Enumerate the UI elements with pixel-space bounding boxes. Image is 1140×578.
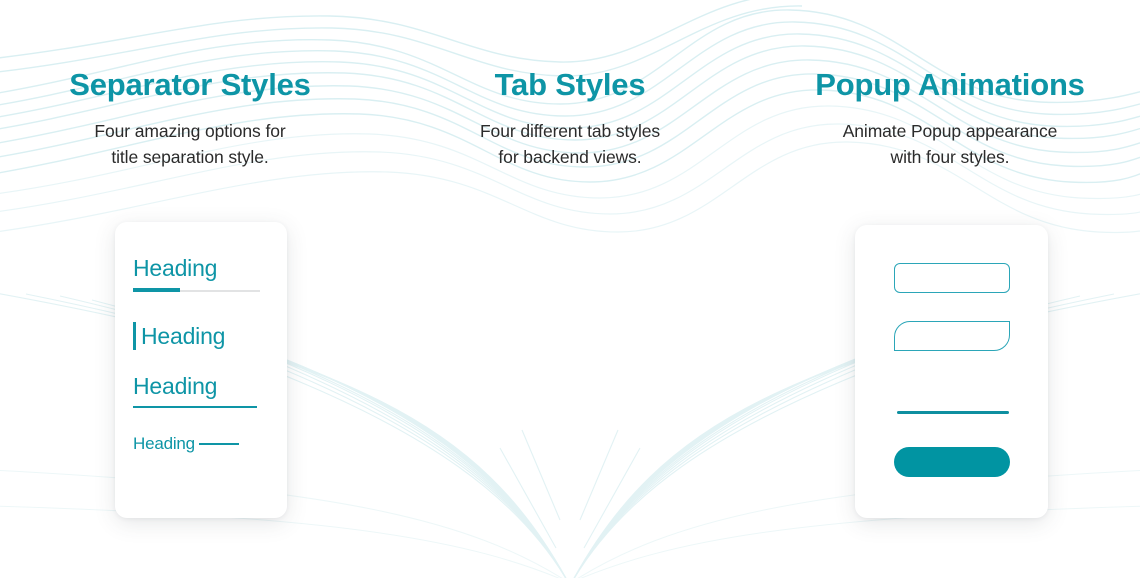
separator-styles-card: Heading Heading Heading xyxy=(115,222,287,518)
column-tab-styles: Tab Styles Four different tab styles for… xyxy=(380,0,760,578)
separator-underline-mixed xyxy=(133,288,260,294)
feature-showcase-banner: Separator Styles Four amazing options fo… xyxy=(0,0,1140,578)
separator-inline-rule xyxy=(199,443,239,446)
separator-vbar-row: Heading xyxy=(133,322,287,350)
page-title-separator-styles: Separator Styles xyxy=(69,68,310,102)
separator-inline-row: Heading xyxy=(133,435,287,453)
subtitle-line-1: Four different tab styles xyxy=(480,119,660,145)
subtitle-line-2: title separation style. xyxy=(94,145,285,171)
subtitle-line-2: for backend views. xyxy=(480,145,660,171)
subtitle-line-1: Four amazing options for xyxy=(94,119,285,145)
separator-vertical-bar xyxy=(133,322,136,350)
separator-full-rule xyxy=(133,406,257,408)
subtitle-popup-animations: Animate Popup appearance with four style… xyxy=(843,119,1058,171)
subtitle-separator-styles: Four amazing options for title separatio… xyxy=(94,119,285,171)
separator-heading-label: Heading xyxy=(133,435,195,453)
separator-heading-label: Heading xyxy=(141,324,225,348)
separator-heading-label: Heading xyxy=(133,374,217,398)
subtitle-line-2: with four styles. xyxy=(843,145,1058,171)
subtitle-tab-styles: Four different tab styles for backend vi… xyxy=(480,119,660,171)
column-separator-styles: Separator Styles Four amazing options fo… xyxy=(0,0,380,578)
separator-option-full-underline[interactable]: Heading xyxy=(115,374,287,408)
columns-container: Separator Styles Four amazing options fo… xyxy=(0,0,1140,578)
subtitle-line-1: Animate Popup appearance xyxy=(843,119,1058,145)
separator-option-bold-bar[interactable]: Heading xyxy=(115,256,287,294)
column-popup-animations: Popup Animations Animate Popup appearanc… xyxy=(760,0,1140,578)
separator-bold-rule xyxy=(133,288,180,292)
separator-heading-label: Heading xyxy=(133,256,217,280)
separator-option-vertical-bar[interactable]: Heading xyxy=(115,322,287,350)
separator-option-inline-line[interactable]: Heading xyxy=(115,435,287,453)
page-title-tab-styles: Tab Styles xyxy=(495,68,646,102)
page-title-popup-animations: Popup Animations xyxy=(815,68,1084,102)
